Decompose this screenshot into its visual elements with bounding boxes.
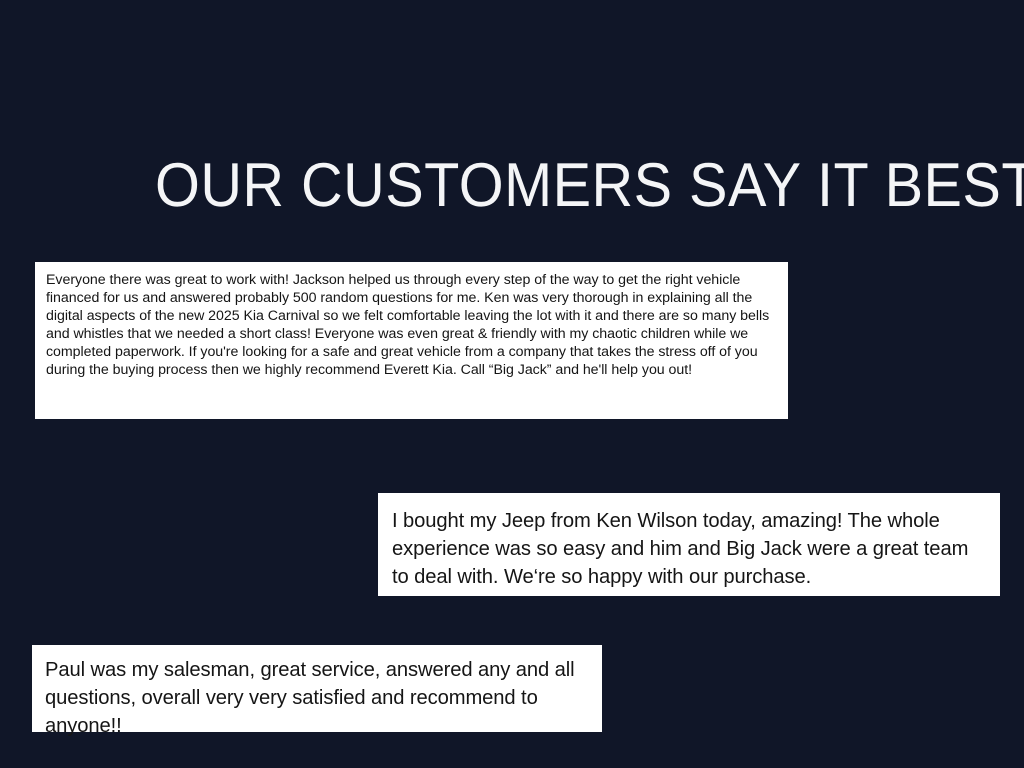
testimonial-card-3: Paul was my salesman, great service, ans… bbox=[32, 645, 602, 732]
page-title: OUR CUSTOMERS SAY IT BEST! bbox=[155, 150, 825, 222]
testimonial-text-3: Paul was my salesman, great service, ans… bbox=[45, 656, 590, 740]
testimonial-text-1: Everyone there was great to work with! J… bbox=[46, 271, 778, 380]
testimonial-card-1: Everyone there was great to work with! J… bbox=[35, 262, 788, 419]
testimonial-card-2: I bought my Jeep from Ken Wilson today, … bbox=[378, 493, 1000, 596]
presentation-slide: OUR CUSTOMERS SAY IT BEST! Everyone ther… bbox=[0, 0, 1024, 768]
testimonial-text-2: I bought my Jeep from Ken Wilson today, … bbox=[392, 507, 988, 591]
